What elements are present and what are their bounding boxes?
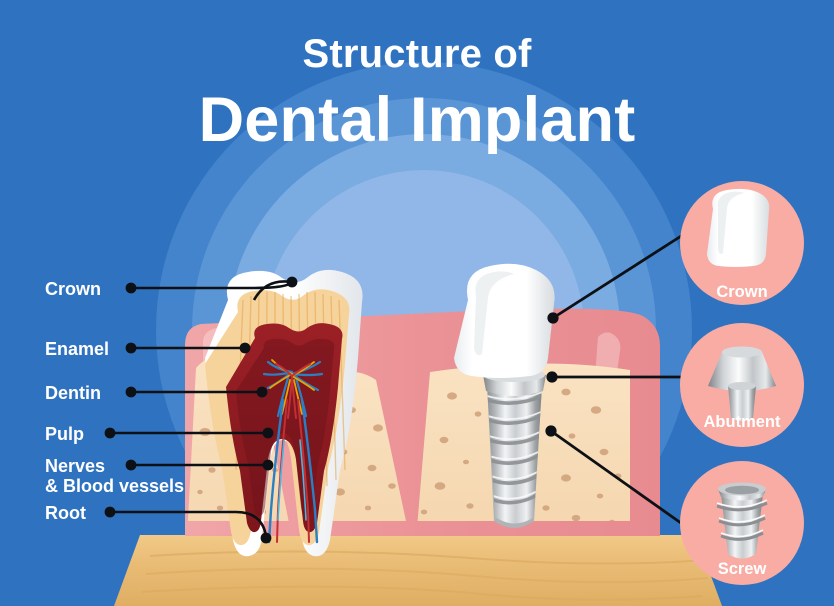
wooden-base [114,535,722,606]
callout-screw[interactable] [680,461,804,585]
callout-crown[interactable] [680,181,804,305]
implant-crown [454,264,555,378]
infographic-canvas: Structure of Dental Implant Crown Enamel… [0,0,834,606]
crown-glyph [707,189,769,267]
dental-implant-illustration [0,0,834,606]
callout-abutment[interactable] [680,323,804,447]
